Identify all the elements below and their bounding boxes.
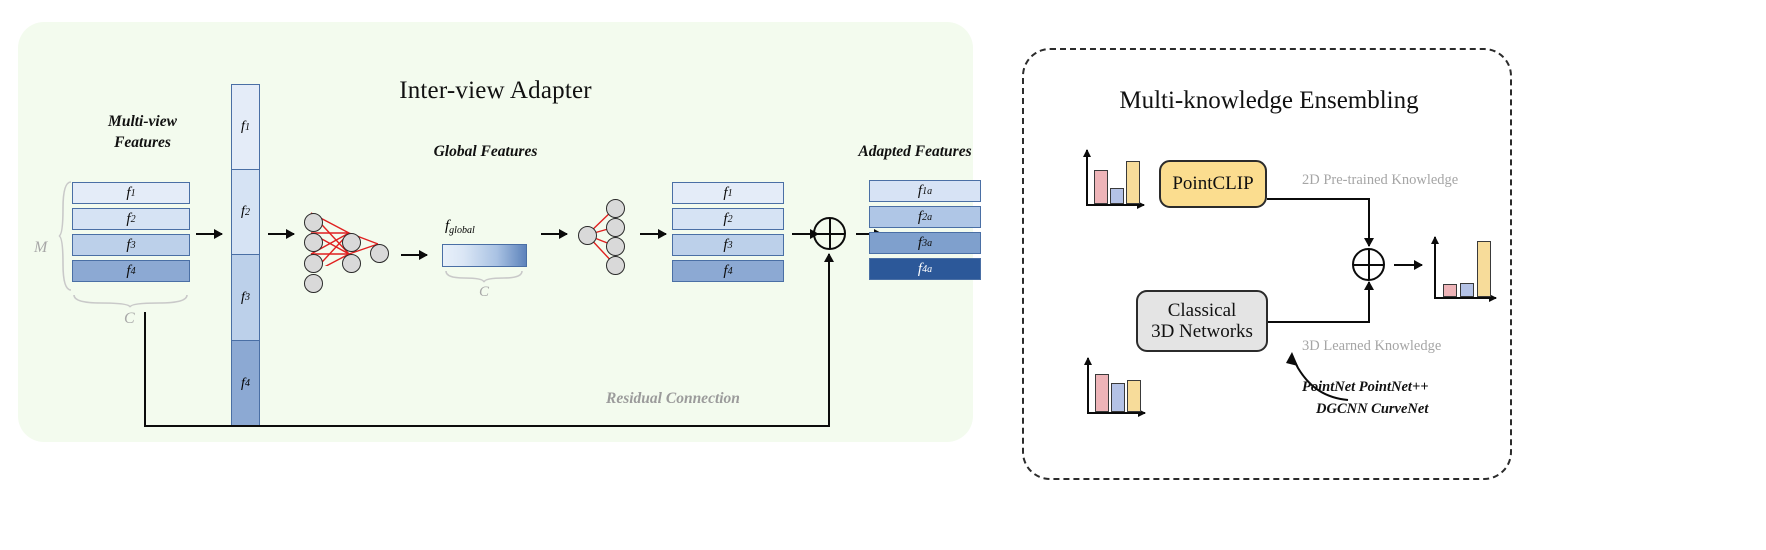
classical-label-line2: 3D Networks: [1151, 321, 1253, 342]
global-features-label: Global Features: [388, 142, 583, 163]
concatenated-feature-column: f1 f2 f3 f4: [231, 84, 260, 430]
decoder-node: [606, 218, 625, 237]
column-segment: f1: [231, 84, 260, 170]
multi-view-features-label: Multi-view Features: [70, 112, 215, 154]
adapted-feature-stack: f1a f2a f3a f4a: [869, 180, 981, 280]
global-feature-brace-label: C: [479, 284, 489, 301]
x-axis: [1434, 297, 1496, 299]
decoder-node: [606, 256, 625, 275]
feature-sub: 4: [245, 378, 250, 389]
list-item: f4: [72, 260, 190, 282]
bar: [1111, 383, 1125, 412]
list-item: f3: [72, 234, 190, 256]
list-item: f3: [672, 234, 784, 256]
knowledge-label-2d: 2D Pre-trained Knowledge: [1302, 172, 1458, 189]
mlp-node: [342, 254, 361, 273]
bar: [1127, 380, 1141, 412]
row-brace-label: M: [34, 239, 47, 257]
bar: [1110, 188, 1124, 204]
list-item: f4: [672, 260, 784, 282]
feature-sub: 1: [245, 122, 250, 133]
pointclip-box[interactable]: PointCLIP: [1159, 160, 1267, 208]
decoder-node: [578, 226, 597, 245]
bar: [1443, 284, 1457, 297]
feature-sub: 4: [131, 266, 136, 277]
multi-view-feature-stack: f1 f2 f3 f4: [72, 182, 190, 282]
column-segment: f2: [231, 169, 260, 256]
view-feature-stack: f1 f2 f3 f4: [672, 182, 784, 282]
right-panel-title: Multi-knowledge Ensembling: [1024, 87, 1514, 115]
multi-knowledge-ensembling-panel: Multi-knowledge Ensembling PointCLIP 2D …: [1022, 48, 1512, 480]
column-segment: f4: [231, 340, 260, 427]
network-names: PointNet PointNet++ DGCNN CurveNet: [1302, 376, 1428, 421]
classical-3d-networks-box[interactable]: Classical 3D Networks: [1136, 290, 1268, 352]
mlp-node: [370, 244, 389, 263]
decoder-node: [606, 199, 625, 218]
chart-2d-input-logits: [1080, 148, 1146, 210]
line-classical-to-sum: [1268, 321, 1370, 323]
col-brace: [72, 294, 190, 309]
list-item: f1a: [869, 180, 981, 202]
row-brace: [58, 180, 73, 292]
network-names-line1: PointNet PointNet++: [1302, 376, 1428, 398]
col-brace-label: C: [124, 310, 135, 328]
bar: [1477, 241, 1491, 297]
mlp-node: [304, 254, 323, 273]
adapted-features-label: Adapted Features: [800, 142, 1030, 163]
list-item: f1: [72, 182, 190, 204]
bar: [1094, 170, 1108, 204]
x-axis: [1086, 204, 1144, 206]
x-axis: [1087, 412, 1145, 414]
bar: [1126, 161, 1140, 204]
chart-3d-input-logits: [1081, 356, 1147, 418]
list-item: f1: [672, 182, 784, 204]
bar: [1460, 283, 1474, 297]
classical-label-line1: Classical: [1151, 300, 1253, 321]
inter-view-adapter-panel: Inter-view Adapter Multi-view Features f…: [18, 22, 973, 442]
list-item: f2: [672, 208, 784, 230]
y-axis: [1434, 237, 1436, 299]
mlp-node: [304, 233, 323, 252]
decoder-node: [606, 237, 625, 256]
arrow-down-to-sum: [1368, 198, 1370, 246]
residual-line-vertical-left: [144, 312, 146, 427]
global-feature-symbol: fglobal: [445, 218, 475, 236]
list-item: f2a: [869, 206, 981, 228]
list-item: f4a: [869, 258, 981, 280]
chart-ensembled-logits: [1428, 235, 1500, 303]
pointclip-label: PointCLIP: [1172, 173, 1253, 194]
column-segment: f3: [231, 254, 260, 341]
arrow-column-to-mlp: [268, 233, 294, 235]
line-pointclip-to-sum: [1267, 198, 1370, 200]
sum-operator: [813, 217, 846, 250]
arrow-mlp-to-global: [401, 254, 427, 256]
arrow-stack-to-column: [196, 233, 222, 235]
network-names-line2: DGCNN CurveNet: [1302, 398, 1428, 420]
residual-connection-label: Residual Connection: [606, 390, 740, 408]
bar: [1095, 374, 1109, 412]
global-feature-bar: [442, 244, 527, 267]
feature-sub: 2: [131, 214, 136, 225]
list-item: f3a: [869, 232, 981, 254]
arrow-up-to-sum: [1368, 282, 1370, 323]
mlp-node: [342, 233, 361, 252]
global-feature-brace: [444, 270, 526, 284]
mlp-node: [304, 213, 323, 232]
arrow-decoder-to-stack: [640, 233, 666, 235]
arrow-sum-to-output: [1394, 264, 1422, 266]
arrow-global-to-decoder: [541, 233, 567, 235]
y-axis: [1086, 150, 1088, 206]
y-axis: [1087, 358, 1089, 414]
sum-operator: [1352, 248, 1385, 281]
page-title: Inter-view Adapter: [18, 77, 973, 105]
mlp-node: [304, 274, 323, 293]
list-item: f2: [72, 208, 190, 230]
residual-arrow-up: [828, 254, 830, 426]
feature-sub: 3: [245, 292, 250, 303]
residual-line-horizontal: [144, 425, 830, 427]
feature-sub: 2: [245, 207, 250, 218]
feature-sub: 3: [131, 240, 136, 251]
feature-sub: 1: [131, 188, 136, 199]
